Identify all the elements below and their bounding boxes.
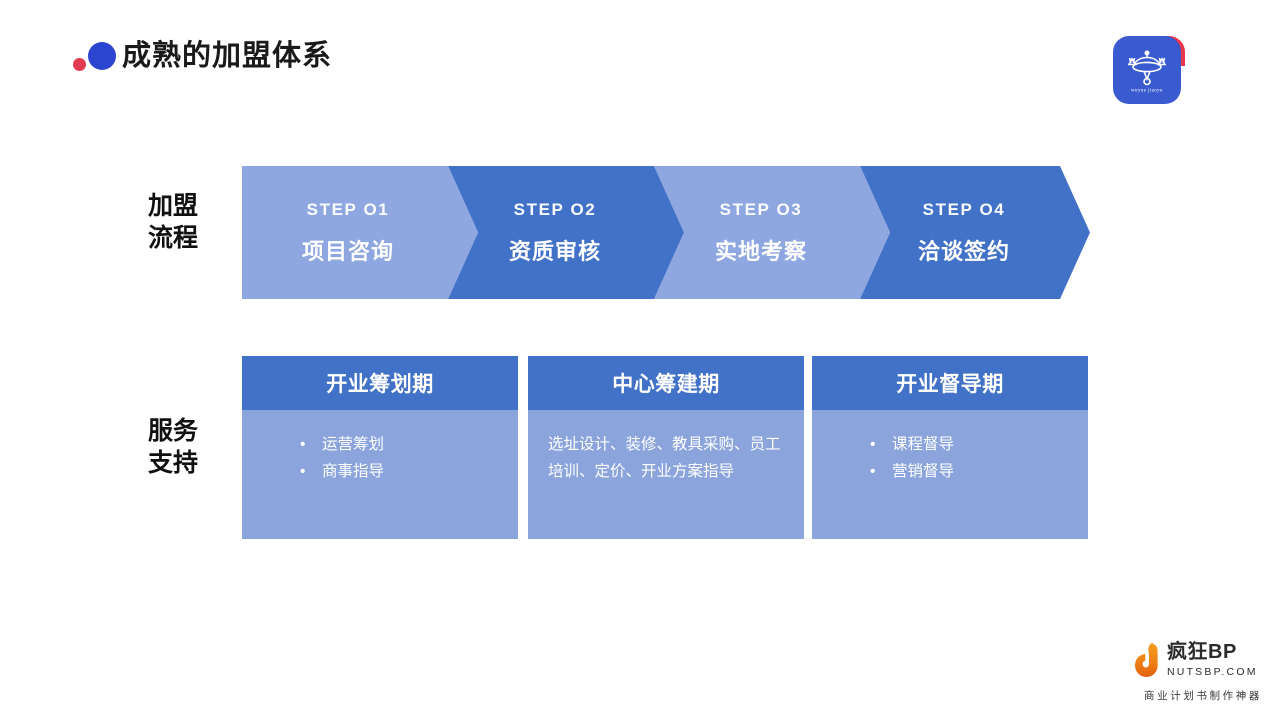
- service-card-2-text: 选址设计、装修、教具采购、员工培训、定价、开业方案指导: [548, 432, 784, 485]
- svg-text:wuyue jiaoyu: wuyue jiaoyu: [1131, 89, 1163, 94]
- list-item-label: 营销督导: [892, 463, 954, 480]
- service-card-3[interactable]: 开业督导期 • 课程督导 • 营销督导: [812, 356, 1088, 539]
- service-card-1-list: • 运营筹划 • 商事指导: [262, 432, 498, 485]
- service-card-1-title: 开业筹划期: [242, 356, 518, 410]
- logo-tile: wuyue jiaoyu: [1113, 36, 1181, 104]
- process-step-2-number: STEP O2: [509, 200, 601, 220]
- page-title: 成熟的加盟体系: [70, 36, 332, 76]
- process-step-1-name: 项目咨询: [302, 234, 394, 266]
- list-item-label: 运营筹划: [322, 436, 384, 453]
- process-step-2-name: 资质审核: [509, 234, 601, 266]
- footer-tagline: 商业计划书制作神器: [1133, 688, 1273, 703]
- row-label-process: 加盟 流程: [128, 190, 218, 254]
- process-step-4-name: 洽谈签约: [918, 234, 1010, 266]
- service-card-2[interactable]: 中心筹建期 选址设计、装修、教具采购、员工培训、定价、开业方案指导: [528, 356, 804, 539]
- bullet-icon: •: [300, 459, 305, 486]
- process-step-3-number: STEP O3: [715, 200, 807, 220]
- list-item-label: 课程督导: [892, 436, 954, 453]
- flame-icon: [1133, 641, 1160, 679]
- row-label-service-line2: 支持: [128, 447, 218, 479]
- service-card-1[interactable]: 开业筹划期 • 运营筹划 • 商事指导: [242, 356, 518, 539]
- list-item-label: 商事指导: [322, 463, 384, 480]
- list-item: • 运营筹划: [322, 432, 498, 459]
- service-card-3-list: • 课程督导 • 营销督导: [832, 432, 1068, 485]
- process-step-3[interactable]: STEP O3 实地考察: [654, 166, 890, 299]
- process-step-1[interactable]: STEP O1 项目咨询: [242, 166, 478, 299]
- list-item: • 商事指导: [322, 459, 498, 486]
- row-label-process-line2: 流程: [128, 222, 218, 254]
- footer-brand-top: 疯狂BP NUTSBP.COM: [1133, 641, 1273, 679]
- blue-circle-icon: [88, 42, 116, 70]
- footer-brand-en: NUTSBP.COM: [1167, 666, 1258, 678]
- list-item: • 课程督导: [892, 432, 1068, 459]
- row-label-service: 服务 支持: [128, 415, 218, 479]
- slide-canvas: 成熟的加盟体系 wuyue jiaoyu: [0, 0, 1280, 720]
- service-card-3-body: • 课程督导 • 营销督导: [812, 410, 1088, 485]
- process-step-4-number: STEP O4: [918, 200, 1010, 220]
- bullet-icon: •: [870, 432, 875, 459]
- footer-brand-cn: 疯狂BP: [1167, 642, 1258, 663]
- service-card-2-title: 中心筹建期: [528, 356, 804, 410]
- list-item: • 营销督导: [892, 459, 1068, 486]
- process-step-3-name: 实地考察: [715, 234, 807, 266]
- page-title-text: 成熟的加盟体系: [122, 36, 332, 76]
- row-label-process-line1: 加盟: [128, 190, 218, 222]
- red-dot-icon: [73, 58, 86, 71]
- crown-emblem-icon: wuyue jiaoyu: [1122, 45, 1172, 95]
- footer-brand: 疯狂BP NUTSBP.COM 商业计划书制作神器: [1133, 641, 1273, 703]
- brand-logo: wuyue jiaoyu: [1113, 36, 1185, 108]
- process-flow: STEP O1 项目咨询 STEP O2 资质审核 STEP O3 实地考察 S…: [242, 166, 1090, 299]
- process-step-2[interactable]: STEP O2 资质审核: [448, 166, 684, 299]
- service-card-1-body: • 运营筹划 • 商事指导: [242, 410, 518, 485]
- bullet-icon: •: [870, 459, 875, 486]
- footer-brand-words: 疯狂BP NUTSBP.COM: [1167, 642, 1258, 678]
- service-card-2-body: 选址设计、装修、教具采购、员工培训、定价、开业方案指导: [528, 410, 804, 485]
- process-step-1-number: STEP O1: [302, 200, 394, 220]
- title-decoration: [70, 36, 122, 76]
- process-step-4[interactable]: STEP O4 洽谈签约: [860, 166, 1090, 299]
- bullet-icon: •: [300, 432, 305, 459]
- row-label-service-line1: 服务: [128, 415, 218, 447]
- service-card-3-title: 开业督导期: [812, 356, 1088, 410]
